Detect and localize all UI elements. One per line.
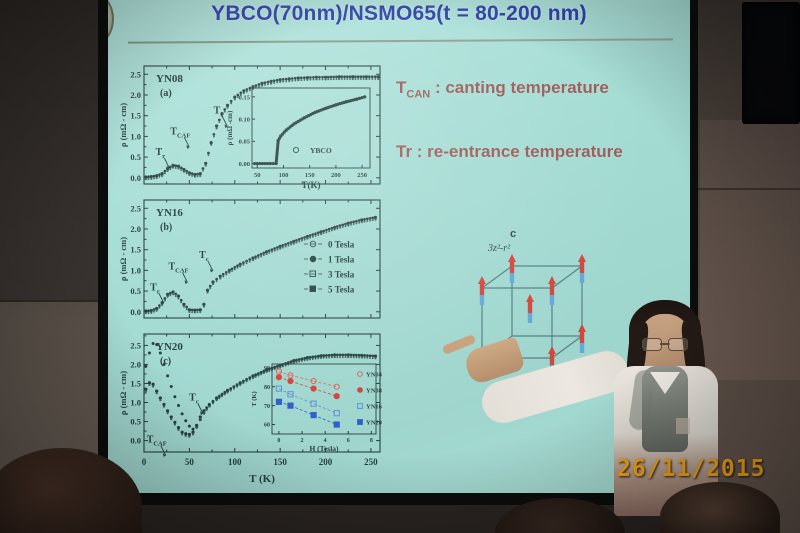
svg-text:TCAF: TCAF	[168, 262, 188, 275]
svg-text:0: 0	[277, 438, 280, 444]
svg-text:0 Tesla: 0 Tesla	[328, 239, 355, 249]
svg-text:6: 6	[347, 438, 350, 444]
svg-text:YN08: YN08	[156, 73, 183, 85]
svg-text:150: 150	[305, 172, 315, 179]
svg-text:H (Tesla): H (Tesla)	[309, 444, 339, 453]
svg-text:Tc: Tc	[199, 250, 209, 263]
svg-text:1.5: 1.5	[130, 245, 141, 255]
glasses-bridge	[660, 343, 670, 345]
svg-text:1.0: 1.0	[130, 398, 141, 408]
svg-text:150: 150	[273, 457, 287, 467]
svg-text:YN16: YN16	[156, 207, 183, 219]
title-divider	[128, 38, 673, 43]
svg-text:(c): (c)	[160, 356, 171, 367]
svg-text:T (K): T (K)	[249, 473, 275, 485]
svg-text:100: 100	[279, 172, 289, 179]
svg-text:1.5: 1.5	[130, 378, 141, 388]
structure-orbital-label: 3z²-r²	[488, 243, 510, 254]
svg-text:ρ (mΩ - cm): ρ (mΩ - cm)	[118, 103, 128, 147]
svg-text:(a): (a)	[160, 88, 172, 99]
svg-text:0.5: 0.5	[130, 152, 141, 162]
svg-text:1.5: 1.5	[130, 111, 141, 121]
svg-text:T (K): T (K)	[251, 391, 258, 406]
svg-text:3 Tesla: 3 Tesla	[328, 269, 355, 279]
svg-text:0.15: 0.15	[239, 94, 251, 101]
tcan-subscript: CAN	[406, 88, 430, 100]
svg-text:0.5: 0.5	[130, 286, 141, 296]
figure-svg: 0.00.51.01.52.02.5ρ (mΩ - cm)YN08(a)TrTC…	[114, 58, 392, 488]
svg-text:Tc: Tc	[189, 393, 199, 406]
tcan-text: : canting temperature	[430, 78, 609, 97]
svg-text:TCAF: TCAF	[147, 434, 167, 447]
definition-tcan: TCAN : canting temperature	[396, 78, 609, 100]
svg-text:2.0: 2.0	[130, 90, 141, 100]
svg-text:100: 100	[228, 457, 242, 467]
svg-text:Tc: Tc	[214, 106, 224, 119]
svg-text:2: 2	[301, 438, 304, 444]
svg-text:50: 50	[185, 457, 195, 467]
svg-text:5 Tesla: 5 Tesla	[328, 284, 355, 294]
tcan-symbol: T	[396, 78, 406, 97]
svg-text:1.0: 1.0	[130, 131, 141, 141]
resistivity-figure: 0.00.51.01.52.02.5ρ (mΩ - cm)YN08(a)TrTC…	[114, 58, 392, 488]
svg-text:90: 90	[264, 366, 270, 372]
svg-text:8: 8	[370, 438, 373, 444]
svg-text:YBCO: YBCO	[310, 146, 332, 155]
slide-title: YBCO(70nm)/NSMO65(t = 80-200 nm)	[108, 2, 690, 26]
svg-text:2.5: 2.5	[130, 203, 141, 213]
svg-text:1.0: 1.0	[130, 265, 141, 275]
svg-text:2.0: 2.0	[130, 224, 141, 234]
svg-text:YN08: YN08	[366, 388, 383, 395]
svg-text:ρ (mΩ - cm): ρ (mΩ - cm)	[118, 237, 128, 281]
svg-text:YN16: YN16	[366, 404, 383, 411]
svg-text:70: 70	[264, 404, 270, 410]
svg-text:0: 0	[142, 457, 147, 467]
wall-seam-left	[0, 300, 112, 302]
room-wall-left-upper	[0, 0, 108, 300]
svg-text:T(K): T(K)	[302, 180, 321, 190]
svg-text:ρ (mΩ -cm): ρ (mΩ -cm)	[226, 110, 234, 145]
svg-text:0.0: 0.0	[130, 173, 141, 183]
svg-text:1 Tesla: 1 Tesla	[328, 254, 355, 264]
svg-text:(b): (b)	[160, 222, 172, 233]
presenter-badge	[676, 418, 690, 434]
svg-text:200: 200	[331, 172, 341, 179]
svg-text:80: 80	[264, 385, 270, 391]
svg-text:TCAF: TCAF	[170, 126, 190, 139]
svg-text:0.5: 0.5	[130, 417, 141, 427]
svg-text:2.5: 2.5	[130, 340, 141, 350]
lecture-photo: YBCO(70nm)/NSMO65(t = 80-200 nm) 0.00.51…	[0, 0, 800, 533]
svg-text:0.0: 0.0	[130, 307, 141, 317]
camera-date-stamp: 26/11/2015	[617, 456, 765, 482]
svg-text:2.0: 2.0	[130, 359, 141, 369]
svg-text:0.0: 0.0	[130, 436, 141, 446]
svg-text:2.5: 2.5	[130, 69, 141, 79]
svg-text:YN04: YN04	[366, 372, 383, 379]
svg-text:250: 250	[357, 172, 367, 179]
svg-text:ρ (mΩ - cm): ρ (mΩ - cm)	[118, 371, 128, 415]
tr-text: : re-entrance temperature	[412, 142, 623, 161]
speaker-box	[742, 2, 800, 124]
tr-symbol: Tr	[396, 142, 412, 161]
svg-text:0.05: 0.05	[239, 139, 251, 146]
svg-text:200: 200	[319, 457, 333, 467]
svg-text:Tr: Tr	[156, 147, 166, 160]
svg-text:0.10: 0.10	[239, 117, 250, 124]
svg-text:Tr: Tr	[150, 282, 160, 295]
svg-text:YN20: YN20	[156, 341, 183, 353]
presenter-glasses	[642, 338, 688, 350]
svg-text:250: 250	[364, 457, 378, 467]
definition-tr: Tr : re-entrance temperature	[396, 142, 623, 162]
svg-text:50: 50	[254, 172, 261, 179]
wall-seam-right	[690, 188, 800, 190]
svg-text:0.00: 0.00	[239, 161, 250, 168]
svg-text:60: 60	[264, 423, 270, 429]
svg-text:YN20: YN20	[366, 420, 382, 427]
structure-axis-label: c	[510, 228, 516, 240]
